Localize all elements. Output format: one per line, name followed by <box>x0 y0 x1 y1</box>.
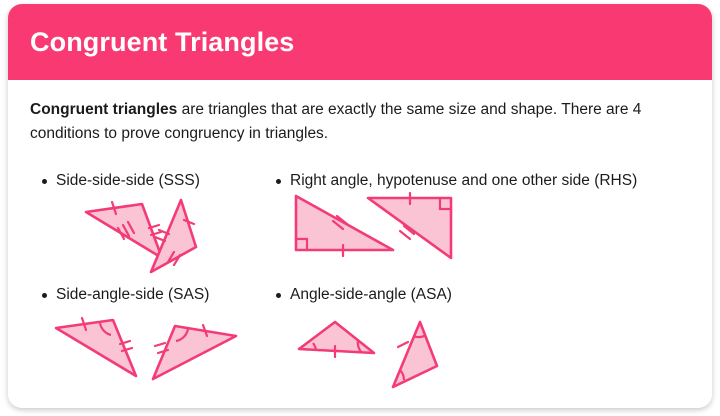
sss-triangle-right <box>151 200 196 272</box>
bullet-dot-icon <box>276 293 281 298</box>
condition-item-sss: Side-side-side (SSS) <box>42 172 200 190</box>
figure-asa-triangles <box>280 302 465 397</box>
sas-triangle-left <box>56 318 136 376</box>
bullet-dot-icon <box>42 179 47 184</box>
condition-label-sss: Side-side-side (SSS) <box>56 172 200 190</box>
figure-sas-triangles <box>38 304 253 399</box>
asa-triangle-left <box>299 322 374 357</box>
condition-item-sas: Side-angle-side (SAS) <box>42 286 209 304</box>
bullet-dot-icon <box>42 293 47 298</box>
page-title: Congruent Triangles <box>30 27 294 58</box>
card-body: Congruent triangles are triangles that a… <box>8 80 712 408</box>
card-header: Congruent Triangles <box>8 4 712 80</box>
asa-right-tick-mark <box>398 342 408 347</box>
sas-triangle-right <box>153 325 236 379</box>
figure-sss-triangles <box>38 190 238 285</box>
intro-paragraph: Congruent triangles are triangles that a… <box>30 98 694 146</box>
sss-triangle-left <box>86 202 162 258</box>
asa-triangle-right <box>393 322 437 387</box>
lesson-card: Congruent Triangles Congruent triangles … <box>8 4 712 408</box>
figure-rhs-triangles <box>280 184 480 284</box>
condition-label-sas: Side-angle-side (SAS) <box>56 286 209 304</box>
intro-lead: Congruent triangles <box>30 101 177 118</box>
